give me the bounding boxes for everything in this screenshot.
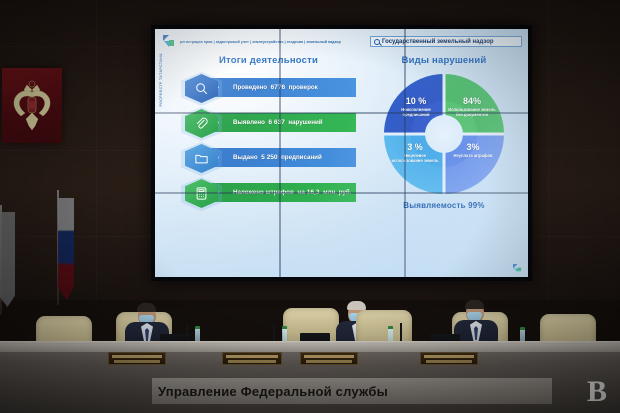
nameplate bbox=[222, 352, 282, 365]
double-headed-eagle-icon bbox=[9, 80, 55, 132]
stat-row: Проведено 6776 проверок bbox=[181, 74, 356, 100]
slice-label-neispolnenie: 10 % Неисполнение предписаний bbox=[390, 96, 442, 117]
results-title: Итоги деятельности bbox=[181, 55, 356, 66]
nav-menu[interactable]: регистрация прав | кадастровый учет | зе… bbox=[180, 40, 341, 44]
presentation-slide: регистрация прав | кадастровый учет | зе… bbox=[155, 29, 528, 277]
nameplate bbox=[420, 352, 478, 365]
slide-header: регистрация прав | кадастровый учет | зе… bbox=[163, 34, 522, 49]
stat-text: Выявлено 6 637 нарушений bbox=[233, 119, 323, 126]
hair bbox=[347, 301, 366, 310]
watermark-logo: В bbox=[580, 375, 614, 409]
detection-rate-label: Выявляемость 99% bbox=[361, 201, 527, 210]
wall-seam bbox=[404, 29, 406, 277]
hair bbox=[137, 303, 156, 312]
stat-text: Выдано 5 250 предписаний bbox=[233, 154, 322, 161]
search-value: Государственный земельный надзор bbox=[382, 39, 494, 45]
wall-seam bbox=[155, 112, 528, 114]
wall-seam bbox=[155, 192, 528, 194]
search-field[interactable]: Государственный земельный надзор bbox=[370, 36, 522, 47]
tatarstan-flag bbox=[0, 212, 15, 307]
brand-vertical-label: РОСРЕЕСТР ТАТАРСТАНА bbox=[159, 53, 163, 107]
stat-row: Выдано 5 250 предписаний bbox=[181, 144, 356, 170]
nameplate bbox=[300, 352, 358, 365]
slice-label-netselevoe: 3 % Нецелевое использование земель bbox=[390, 142, 440, 163]
conference-room-photo: регистрация прав | кадастровый учет | зе… bbox=[0, 0, 620, 413]
slice-label-neuplata: 3% Неуплата штрафов bbox=[448, 142, 498, 159]
stat-bar: Проведено 6776 проверок bbox=[211, 78, 356, 97]
stat-bar: Выявлено 6 637 нарушений bbox=[211, 113, 356, 132]
russian-coat-of-arms-plaque bbox=[2, 68, 62, 143]
violations-donut-chart: 10 % Неисполнение предписаний 84% Исполь… bbox=[384, 74, 504, 194]
venue-banner: Управление Федеральной службы bbox=[152, 378, 552, 404]
nameplate bbox=[108, 352, 166, 365]
stat-bar: Выдано 5 250 предписаний bbox=[211, 148, 356, 167]
russian-flag bbox=[58, 198, 74, 300]
corner-logo-icon bbox=[513, 264, 522, 273]
violations-column: Виды нарушений 10 % Неисполнение предпис… bbox=[361, 55, 527, 210]
video-wall: регистрация прав | кадастровый учет | зе… bbox=[151, 25, 532, 281]
stat-text: Проведено 6776 проверок bbox=[233, 84, 318, 91]
slice-label-bez-dokumentov: 84% Использование земель без документов bbox=[446, 96, 498, 117]
search-icon bbox=[374, 39, 380, 45]
rosreestr-logo-icon bbox=[163, 35, 174, 48]
venue-banner-text: Управление Федеральной службы bbox=[152, 384, 388, 399]
violations-title: Виды нарушений bbox=[361, 55, 527, 66]
wall-seam bbox=[279, 29, 281, 277]
results-column: Итоги деятельности Проведено 6776 провер… bbox=[181, 55, 356, 214]
hair bbox=[465, 300, 484, 309]
